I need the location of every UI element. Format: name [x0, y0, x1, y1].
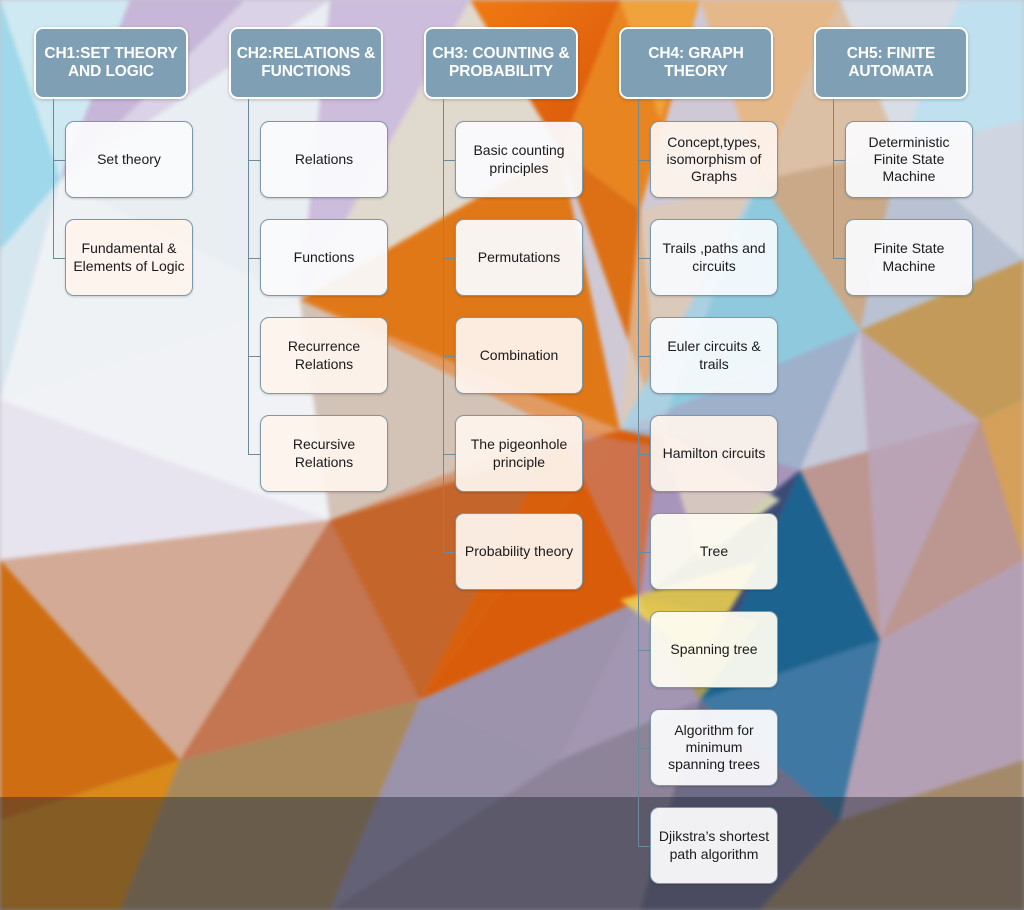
topic-node-ch3-3[interactable]: Combination — [455, 317, 583, 394]
connector-elbow-ch1-1 — [53, 160, 65, 161]
chapter-header-ch4[interactable]: CH4: GRAPH THEORY — [619, 27, 773, 99]
topic-node-ch2-1[interactable]: Relations — [260, 121, 388, 198]
topic-node-ch4-1[interactable]: Concept,types, isomorphism of Graphs — [650, 121, 778, 198]
chapter-header-ch3[interactable]: CH3: COUNTING & PROBABILITY — [424, 27, 578, 99]
chapter-header-ch1[interactable]: CH1:SET THEORY AND LOGIC — [34, 27, 188, 99]
connector-spine-ch1 — [53, 99, 54, 258]
topic-node-ch3-4[interactable]: The pigeonhole principle — [455, 415, 583, 492]
connector-elbow-ch2-1 — [248, 160, 260, 161]
connector-elbow-ch4-4 — [638, 454, 650, 455]
connector-spine-ch5 — [833, 99, 834, 258]
connector-elbow-ch4-7 — [638, 748, 650, 749]
topic-node-ch1-2[interactable]: Fundamental & Elements of Logic — [65, 219, 193, 296]
topic-node-ch2-4[interactable]: Recursive Relations — [260, 415, 388, 492]
chapter-chart: CH1:SET THEORY AND LOGICSet theoryFundam… — [0, 0, 1024, 910]
connector-elbow-ch5-1 — [833, 160, 845, 161]
topic-node-ch3-2[interactable]: Permutations — [455, 219, 583, 296]
connector-elbow-ch3-4 — [443, 454, 455, 455]
connector-elbow-ch3-2 — [443, 258, 455, 259]
connector-elbow-ch3-3 — [443, 356, 455, 357]
connector-elbow-ch4-8 — [638, 846, 650, 847]
topic-node-ch4-5[interactable]: Tree — [650, 513, 778, 590]
connector-elbow-ch3-1 — [443, 160, 455, 161]
topic-node-ch3-1[interactable]: Basic counting principles — [455, 121, 583, 198]
chapter-header-ch5[interactable]: CH5: FINITE AUTOMATA — [814, 27, 968, 99]
connector-elbow-ch5-2 — [833, 258, 845, 259]
topic-node-ch4-3[interactable]: Euler circuits & trails — [650, 317, 778, 394]
topic-node-ch5-2[interactable]: Finite State Machine — [845, 219, 973, 296]
topic-node-ch2-2[interactable]: Functions — [260, 219, 388, 296]
topic-node-ch4-4[interactable]: Hamilton circuits — [650, 415, 778, 492]
mind-map-slide: CH1:SET THEORY AND LOGICSet theoryFundam… — [0, 0, 1024, 910]
connector-elbow-ch2-2 — [248, 258, 260, 259]
connector-elbow-ch1-2 — [53, 258, 65, 259]
topic-node-ch4-6[interactable]: Spanning tree — [650, 611, 778, 688]
topic-node-ch2-3[interactable]: Recurrence Relations — [260, 317, 388, 394]
connector-elbow-ch2-3 — [248, 356, 260, 357]
connector-elbow-ch4-6 — [638, 650, 650, 651]
topic-node-ch4-8[interactable]: Djikstra’s shortest path algorithm — [650, 807, 778, 884]
connector-spine-ch4 — [638, 99, 639, 846]
connector-spine-ch2 — [248, 99, 249, 454]
topic-node-ch1-1[interactable]: Set theory — [65, 121, 193, 198]
connector-spine-ch3 — [443, 99, 444, 552]
connector-elbow-ch4-1 — [638, 160, 650, 161]
topic-node-ch5-1[interactable]: Deterministic Finite State Machine — [845, 121, 973, 198]
topic-node-ch4-7[interactable]: Algorithm for minimum spanning trees — [650, 709, 778, 786]
connector-elbow-ch3-5 — [443, 552, 455, 553]
topic-node-ch4-2[interactable]: Trails ,paths and circuits — [650, 219, 778, 296]
topic-node-ch3-5[interactable]: Probability theory — [455, 513, 583, 590]
connector-elbow-ch2-4 — [248, 454, 260, 455]
chapter-header-ch2[interactable]: CH2:RELATIONS & FUNCTIONS — [229, 27, 383, 99]
connector-elbow-ch4-2 — [638, 258, 650, 259]
connector-elbow-ch4-3 — [638, 356, 650, 357]
connector-elbow-ch4-5 — [638, 552, 650, 553]
